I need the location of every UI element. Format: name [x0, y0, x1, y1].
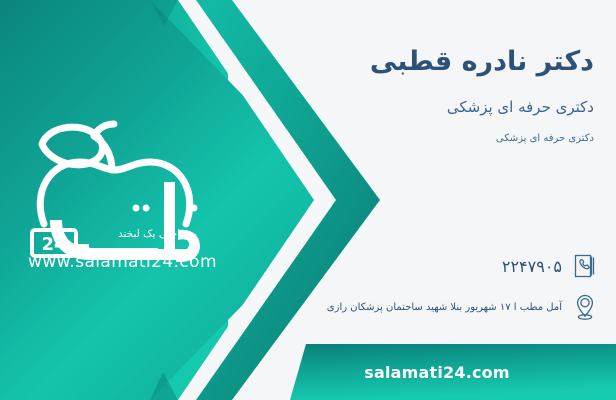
location-pin-icon: [572, 293, 598, 321]
logo-tagline: به راحتی یک لبخند: [118, 228, 223, 240]
teal-chevron-artwork: [0, 0, 380, 400]
doctor-name: دکتر نادره قطبی: [370, 46, 594, 77]
address-text: آمل مطب ا ۱۷ شهریور بنلا شهید ساحتمان پز…: [327, 302, 562, 313]
logo-url: www.salamati24.com: [20, 252, 225, 272]
phone-row[interactable]: ۲۲۴۷۹۰۵: [502, 252, 598, 280]
phonebook-icon: [572, 252, 598, 280]
footer-bar: salamati24.com: [280, 344, 616, 400]
phone-number: ۲۲۴۷۹۰۵: [502, 257, 562, 276]
doctor-specialty-secondary: دکتری حرفه ای پزشکی: [496, 133, 594, 144]
footer-site-label[interactable]: salamati24.com: [280, 344, 616, 400]
doctor-profile-card: 24 به راحتی یک لبخند www.salamati24.com …: [0, 0, 616, 400]
address-row[interactable]: آمل مطب ا ۱۷ شهریور بنلا شهید ساحتمان پز…: [327, 293, 598, 321]
doctor-specialty: دکتری حرفه ای پزشکی: [447, 98, 594, 116]
